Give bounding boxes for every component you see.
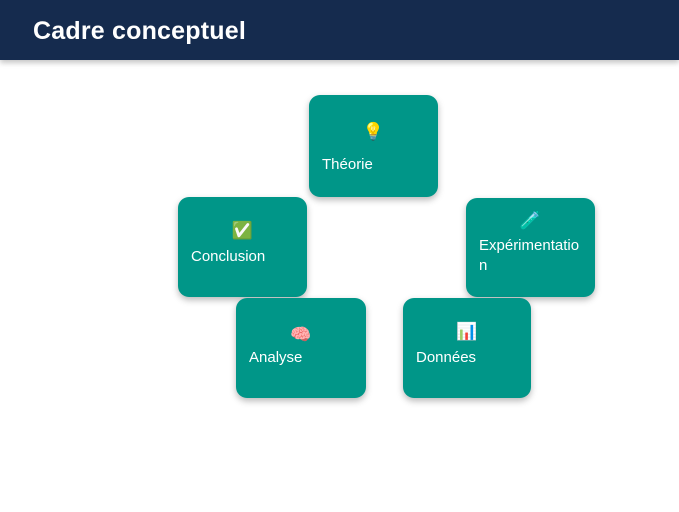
concept-card-conclusion[interactable]: ✅ Conclusion xyxy=(178,197,307,297)
concept-card-donnees[interactable]: 📊 Données xyxy=(403,298,531,398)
brain-icon: 🧠 xyxy=(236,325,366,345)
concept-card-label: Expérimentation xyxy=(479,236,585,276)
test-tube-icon: 🧪 xyxy=(466,211,595,231)
concept-card-analyse[interactable]: 🧠 Analyse xyxy=(236,298,366,398)
check-mark-icon: ✅ xyxy=(178,221,307,241)
concept-card-label: Analyse xyxy=(249,348,356,368)
header-bar: Cadre conceptuel xyxy=(0,0,679,60)
bar-chart-icon: 📊 xyxy=(403,322,531,342)
diagram-canvas: 💡 Théorie ✅ Conclusion 🧪 Expérimentation… xyxy=(0,60,679,512)
concept-card-theorie[interactable]: 💡 Théorie xyxy=(309,95,438,197)
page-title: Cadre conceptuel xyxy=(33,16,246,46)
concept-card-experimentation[interactable]: 🧪 Expérimentation xyxy=(466,198,595,297)
lightbulb-icon: 💡 xyxy=(309,122,438,142)
concept-card-label: Conclusion xyxy=(191,247,297,267)
concept-card-label: Données xyxy=(416,348,521,368)
concept-card-label: Théorie xyxy=(322,155,428,175)
